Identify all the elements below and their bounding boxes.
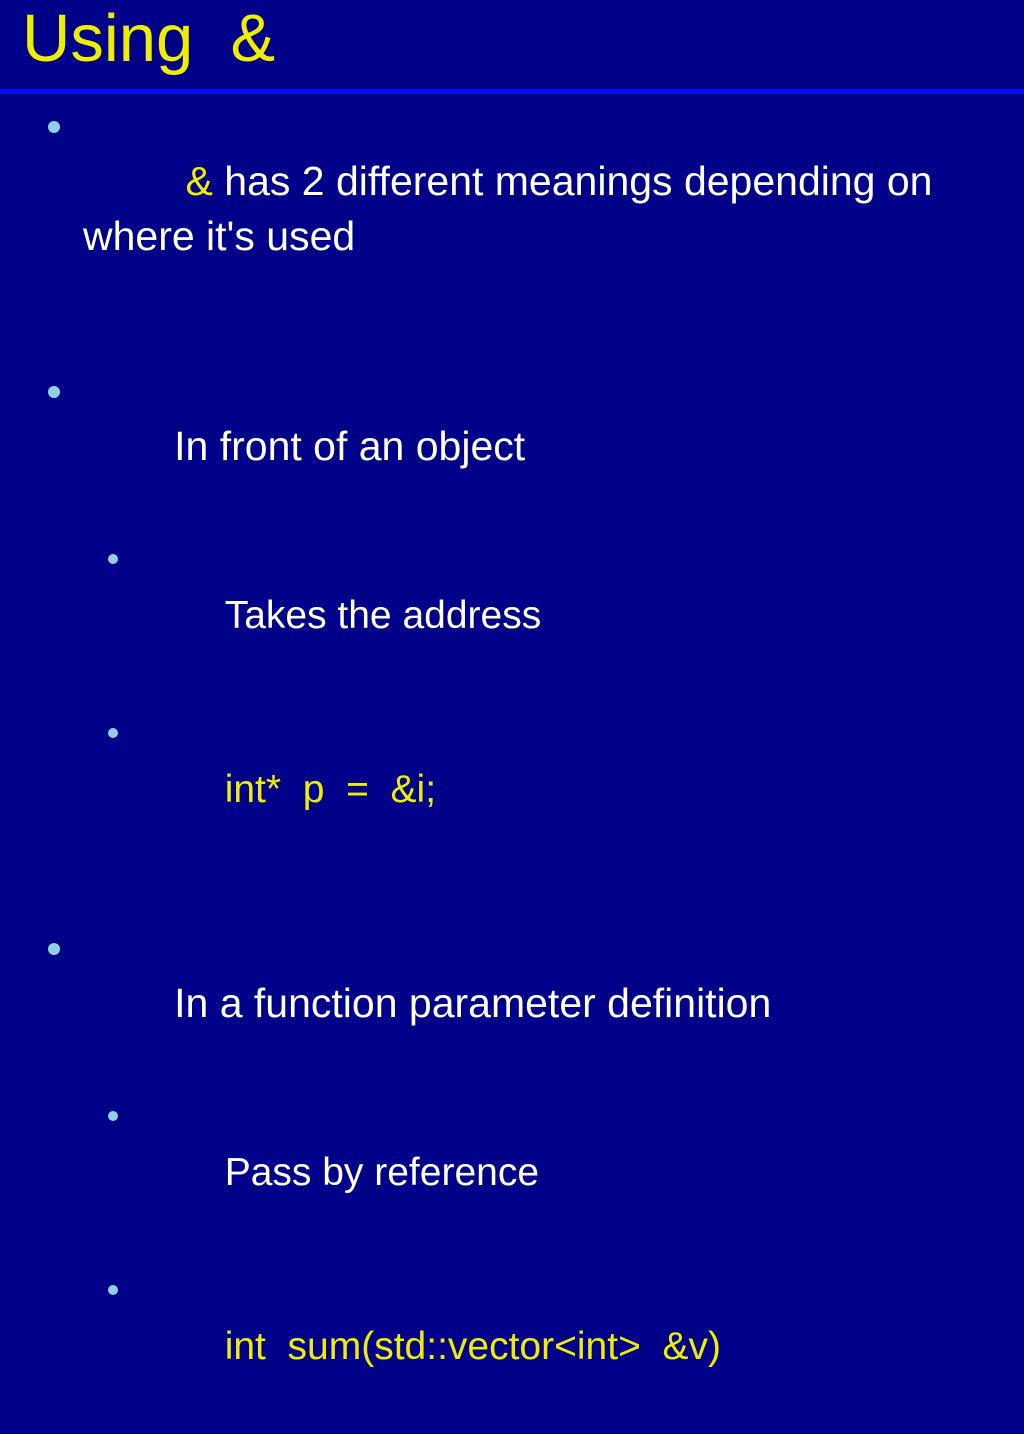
bullet-dot-icon bbox=[108, 1285, 118, 1295]
bullet-dot-icon bbox=[48, 386, 60, 398]
code-snippet: int sum(std::vector<int> &v) bbox=[225, 1325, 721, 1368]
page-title: Using & bbox=[22, 0, 275, 84]
slide-title-area: Using & bbox=[0, 0, 1024, 90]
bullet-item-level2-code: int* p = &i; bbox=[0, 703, 1024, 877]
slide-body: & has 2 different meanings depending on … bbox=[0, 99, 1024, 768]
bullet-item-level2: Pass by reference bbox=[0, 1086, 1024, 1260]
presentation-slide: Using & & has 2 different meanings depen… bbox=[0, 0, 1024, 768]
bullet-group-3: In a function parameter definition Pass … bbox=[0, 921, 1024, 1434]
bullet-text: In front of an object bbox=[174, 423, 525, 469]
bullet-dot-icon bbox=[48, 121, 60, 133]
bullet-text: Pass by reference bbox=[225, 1151, 539, 1194]
bullet-dot-icon bbox=[108, 1111, 118, 1121]
bullet-item-level1: & has 2 different meanings depending on … bbox=[0, 99, 1024, 319]
bullet-item-level1: In a function parameter definition bbox=[0, 921, 1024, 1086]
bullet-text-prefix bbox=[174, 158, 185, 204]
bullet-text: In a function parameter definition bbox=[174, 980, 771, 1026]
bullet-dot-icon bbox=[108, 554, 118, 564]
bullet-item-level2: Takes the address bbox=[0, 529, 1024, 703]
bullet-dot-icon bbox=[108, 728, 118, 738]
title-divider-rule bbox=[0, 89, 1024, 94]
bullet-text-rest: has 2 different meanings depending on wh… bbox=[83, 158, 944, 259]
bullet-item-level1: In front of an object bbox=[0, 364, 1024, 529]
bullet-text: Takes the address bbox=[225, 594, 542, 637]
bullet-group-1: & has 2 different meanings depending on … bbox=[0, 99, 1024, 319]
code-snippet: int* p = &i; bbox=[225, 768, 436, 811]
bullet-text-highlight: & bbox=[186, 158, 213, 204]
bullet-group-2: In front of an object Takes the address … bbox=[0, 364, 1024, 877]
bullet-dot-icon bbox=[48, 943, 60, 955]
bullet-item-level2-code: int sum(std::vector<int> &v) bbox=[0, 1260, 1024, 1434]
